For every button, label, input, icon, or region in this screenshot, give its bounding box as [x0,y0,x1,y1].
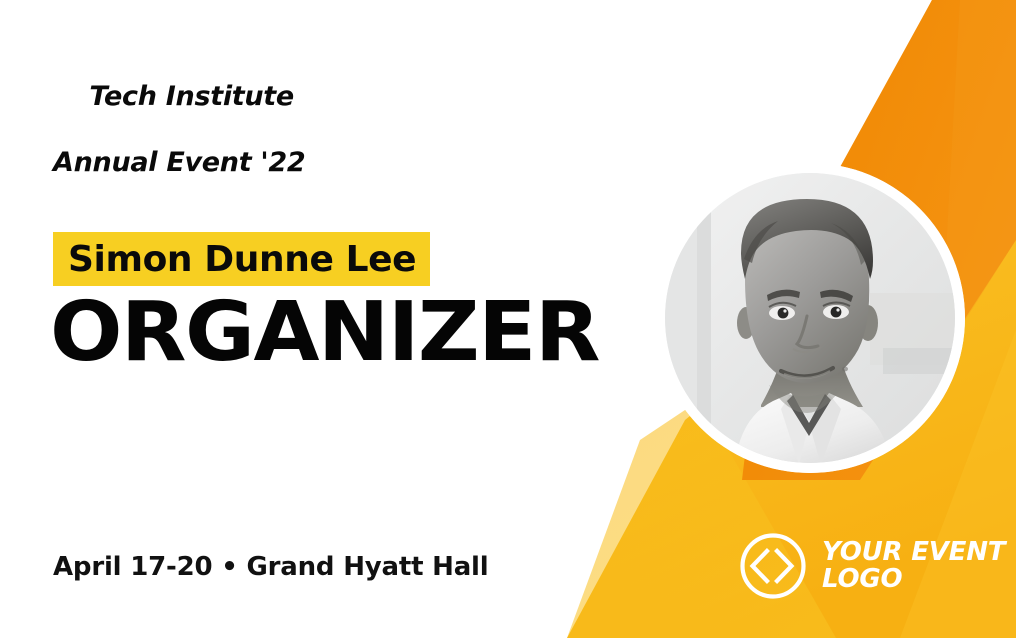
event-title-line-2: Annual Event '22 [53,147,305,180]
code-brackets-circle-icon [737,530,809,602]
photo-image [665,173,955,463]
speaker-role: ORGANIZER [50,292,599,374]
event-date-venue: April 17-20 • Grand Hyatt Hall [53,552,488,582]
speaker-name-banner: Simon Dunne Lee [53,232,430,286]
logo-line-1: YOUR EVENT [822,537,1005,567]
logo-line-2: LOGO [822,566,1005,593]
speaker-photo [655,163,965,473]
event-logo: YOUR EVENT LOGO [737,530,1005,602]
portrait-illustration [665,173,955,463]
speaker-announcement-poster: Tech Institute Annual Event '22 Simon Du… [0,0,1016,638]
logo-wordmark: YOUR EVENT LOGO [822,539,1005,592]
event-title: Tech Institute Annual Event '22 [53,48,305,246]
event-title-line-1: Tech Institute [89,81,294,112]
speaker-name: Simon Dunne Lee [68,239,416,280]
